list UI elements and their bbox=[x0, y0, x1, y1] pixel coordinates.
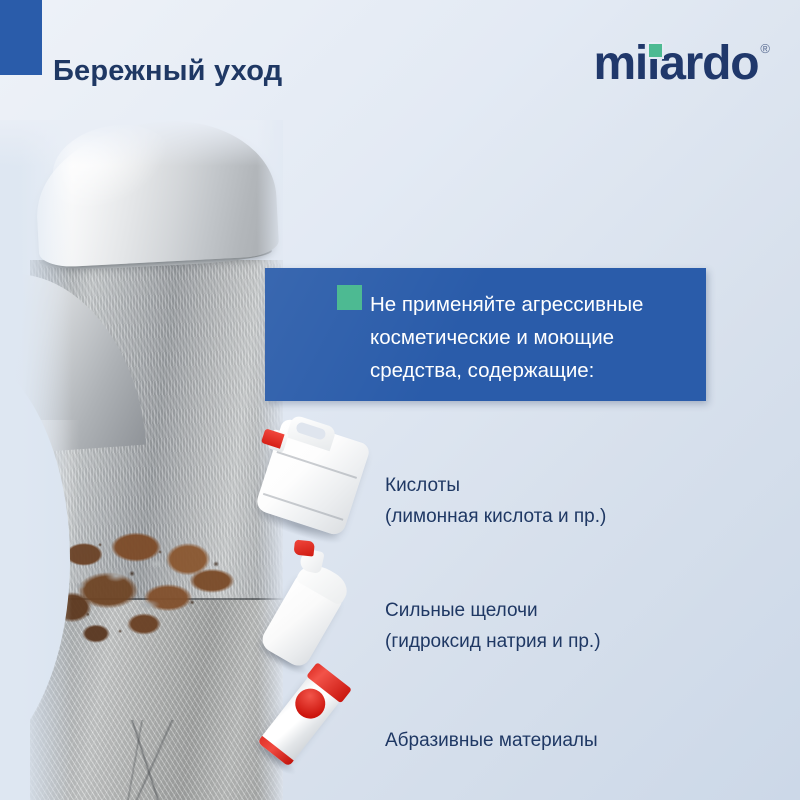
list-item-abrasives: Абразивные материалы bbox=[385, 725, 598, 756]
page-title: Бережный уход bbox=[53, 55, 282, 88]
faucet-scratches bbox=[90, 720, 230, 800]
list-item-alkalis: Сильные щелочи (гидроксид натрия и пр.) bbox=[385, 595, 601, 657]
logo-green-dot-icon bbox=[649, 44, 662, 57]
list-item-acids-line2: (лимонная кислота и пр.) bbox=[385, 501, 606, 532]
brand-logo: milardo ® bbox=[593, 38, 770, 92]
list-item-alkalis-line1: Сильные щелочи bbox=[385, 595, 601, 626]
photo-top-fade bbox=[0, 120, 283, 166]
warning-banner: Не применяйте агрессивные косметические … bbox=[265, 268, 706, 401]
bottle-red-cap bbox=[293, 540, 314, 557]
list-item-acids: Кислоты (лимонная кислота и пр.) bbox=[385, 470, 606, 532]
banner-bullet-icon bbox=[337, 285, 362, 310]
registered-trademark-icon: ® bbox=[760, 42, 770, 55]
list-item-acids-line1: Кислоты bbox=[385, 470, 606, 501]
faucet-photo bbox=[0, 120, 283, 800]
list-item-alkalis-line2: (гидроксид натрия и пр.) bbox=[385, 626, 601, 657]
logo-wordmark-text: milardo bbox=[593, 37, 758, 90]
slide-canvas: Бережный уход milardo ® bbox=[0, 0, 800, 800]
list-item-abrasives-line1: Абразивные материалы bbox=[385, 725, 598, 756]
banner-text: Не применяйте агрессивные косметические … bbox=[370, 288, 688, 387]
accent-square bbox=[0, 0, 42, 75]
photo-left-fade bbox=[0, 120, 72, 800]
logo-wordmark: milardo bbox=[593, 38, 758, 90]
